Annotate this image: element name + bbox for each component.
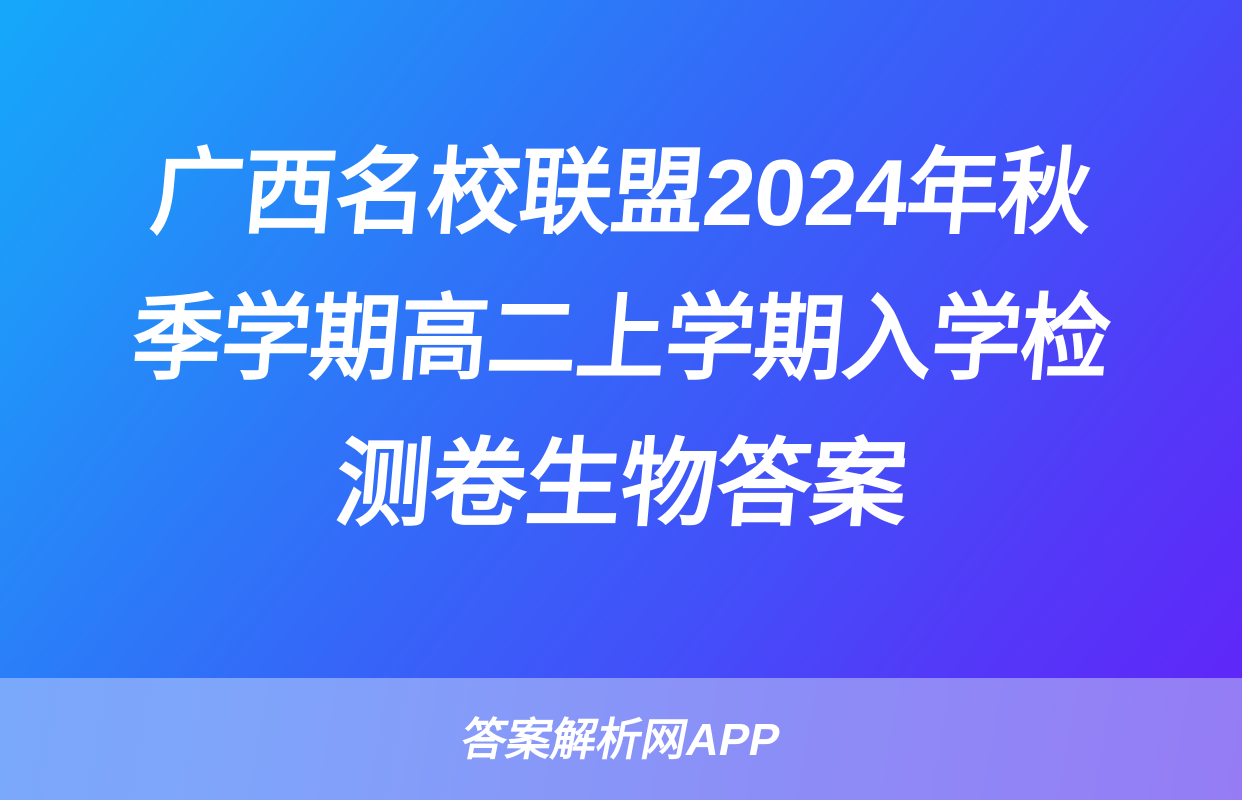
title-line-3: 测卷生物答案 xyxy=(87,412,1156,558)
poster-gradient-background: 广西名校联盟2024年秋 季学期高二上学期入学检 测卷生物答案 xyxy=(0,0,1242,678)
app-watermark: 答案解析网APP xyxy=(457,714,785,766)
title-line-2: 季学期高二上学期入学检 xyxy=(110,266,1131,412)
page-title: 广西名校联盟2024年秋 季学期高二上学期入学检 测卷生物答案 xyxy=(81,120,1161,558)
poster-footer-band: 答案解析网APP xyxy=(0,678,1242,800)
poster-card: 广西名校联盟2024年秋 季学期高二上学期入学检 测卷生物答案 答案解析网APP xyxy=(0,0,1242,800)
title-line-1: 广西名校联盟2024年秋 xyxy=(92,120,1150,266)
